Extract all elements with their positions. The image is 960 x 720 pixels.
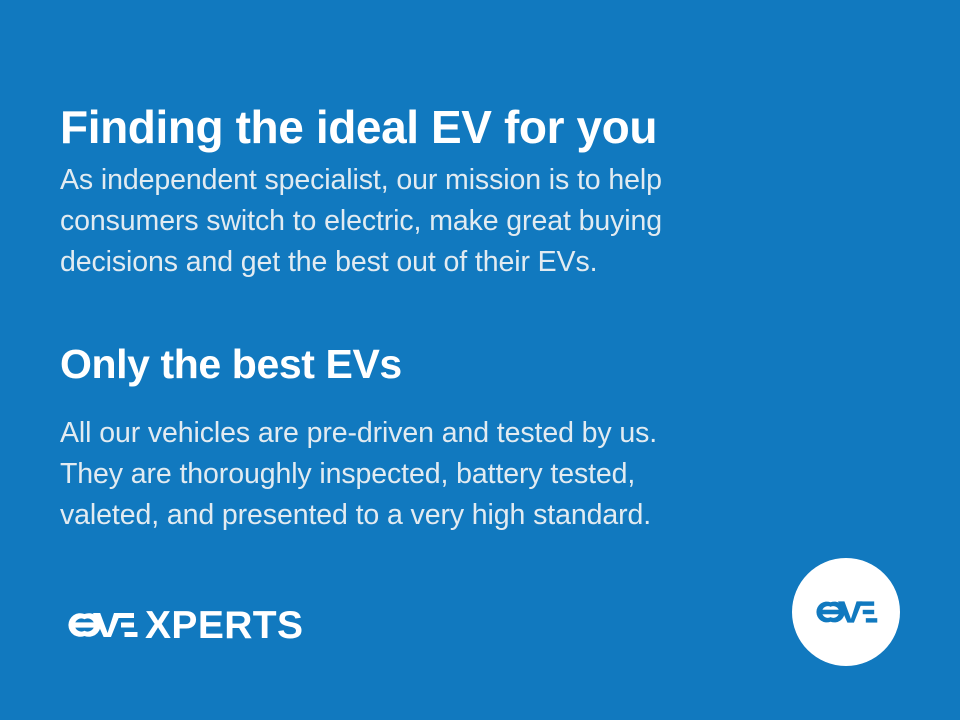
- ev-monogram-icon: [60, 602, 144, 648]
- intro-paragraph: As independent specialist, our mission i…: [60, 160, 860, 283]
- paragraph-line: consumers switch to electric, make great…: [60, 201, 860, 242]
- brand-badge: [792, 558, 900, 666]
- section-heading: Only the best EVs: [60, 340, 402, 388]
- paragraph-line: valeted, and presented to a very high st…: [60, 495, 860, 536]
- quality-paragraph: All our vehicles are pre-driven and test…: [60, 413, 860, 536]
- slide-canvas: Finding the ideal EV for you As independ…: [0, 0, 960, 720]
- paragraph-line: All our vehicles are pre-driven and test…: [60, 413, 860, 454]
- paragraph-line: They are thoroughly inspected, battery t…: [60, 454, 860, 495]
- page-title: Finding the ideal EV for you: [60, 101, 657, 153]
- wordmark-text: XPERTS: [145, 606, 303, 645]
- ev-monogram-icon: [809, 591, 883, 633]
- paragraph-line: decisions and get the best out of their …: [60, 242, 860, 283]
- paragraph-line: As independent specialist, our mission i…: [60, 160, 860, 201]
- brand-wordmark: XPERTS: [60, 600, 303, 650]
